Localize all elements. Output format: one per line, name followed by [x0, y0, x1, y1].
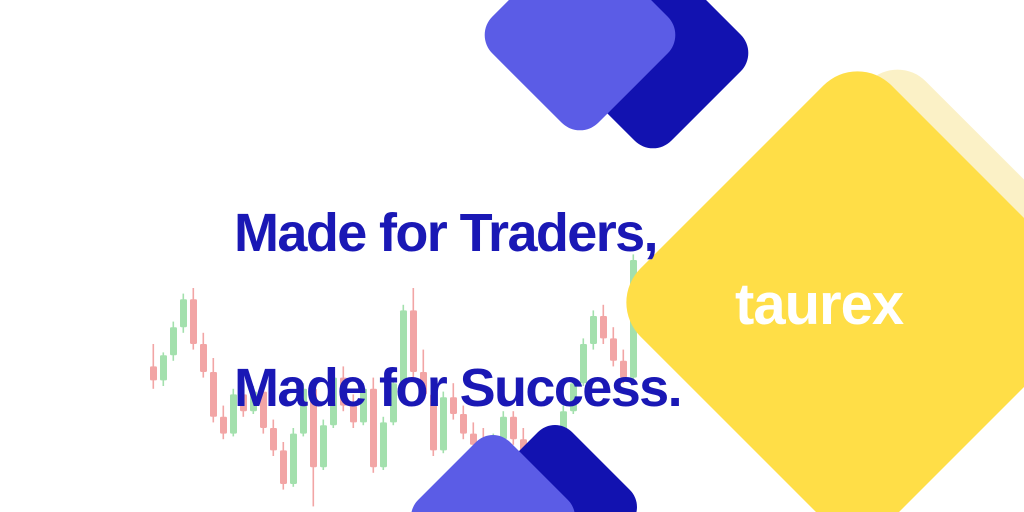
headline-line-2: Made for Success.: [234, 363, 681, 415]
hero-banner: Made for Traders, Made for Success. taur…: [0, 0, 1024, 512]
candle-body: [210, 372, 217, 417]
candle-body: [150, 366, 157, 380]
candle-body: [190, 299, 197, 344]
candle-body: [200, 344, 207, 372]
candle-body: [180, 299, 187, 327]
taurex-logo: taurex: [735, 276, 903, 334]
page-title: Made for Traders, Made for Success.: [234, 104, 681, 512]
candle-body: [220, 417, 227, 434]
candle-body: [160, 355, 167, 380]
headline-line-1: Made for Traders,: [234, 208, 681, 260]
candle-body: [170, 327, 177, 355]
